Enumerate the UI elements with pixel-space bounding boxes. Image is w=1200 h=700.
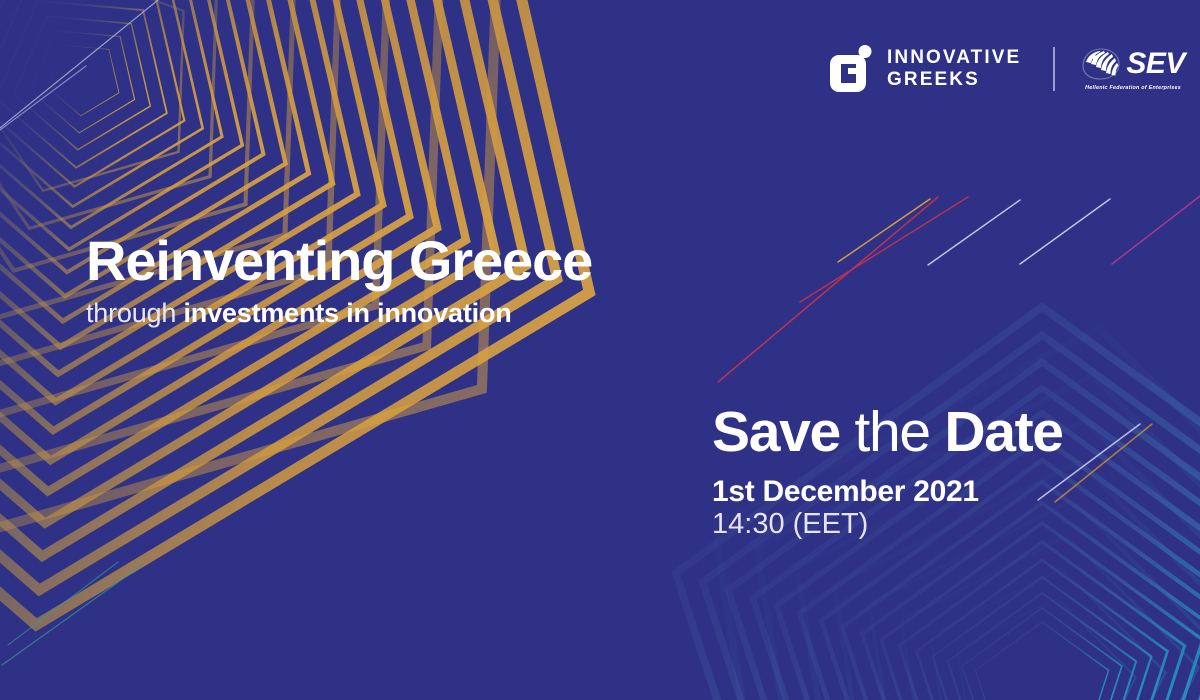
save-word: Save: [712, 400, 840, 464]
gold-pentagon-cluster: [0, 0, 643, 670]
subtitle-light: through: [86, 298, 183, 328]
subtitle-bold: investments in innovation: [183, 298, 511, 328]
the-word: the: [840, 400, 944, 464]
gold-pentagon-cluster-secondary: [0, 0, 675, 700]
sev-logo-row: SEV: [1081, 47, 1185, 81]
sev-wordmark: SEV: [1126, 49, 1185, 79]
poster-canvas: INNOVATIVE GREEKS: [0, 0, 1200, 700]
logo-bar: INNOVATIVE GREEKS: [830, 38, 1185, 100]
ig-monogram-icon: [830, 45, 874, 93]
innovative-greeks-logo[interactable]: INNOVATIVE GREEKS: [830, 45, 1021, 93]
page-subtitle: through investments in innovation: [86, 299, 706, 329]
headline-block: Reinventing Greece through investments i…: [86, 232, 706, 329]
event-time: 14:30 (EET): [712, 508, 1142, 540]
date-word: Date: [944, 400, 1062, 464]
sev-tagline: Hellenic Federation of Enterprises: [1085, 85, 1181, 91]
save-the-date-title: Save the Date: [712, 403, 1142, 462]
logo-divider: [1053, 47, 1055, 91]
sev-logo[interactable]: SEV Hellenic Federation of Enterprises: [1081, 47, 1185, 91]
sev-lion-icon: [1081, 47, 1121, 81]
page-title: Reinventing Greece: [86, 232, 706, 290]
innovative-greeks-wordmark: INNOVATIVE GREEKS: [887, 47, 1021, 91]
ig-line-1: INNOVATIVE: [887, 47, 1021, 69]
background-decoration: [0, 0, 1200, 700]
event-date: 1st December 2021: [712, 476, 1142, 508]
save-the-date-block: Save the Date 1st December 2021 14:30 (E…: [712, 403, 1142, 541]
ig-line-2: GREEKS: [887, 69, 1021, 91]
